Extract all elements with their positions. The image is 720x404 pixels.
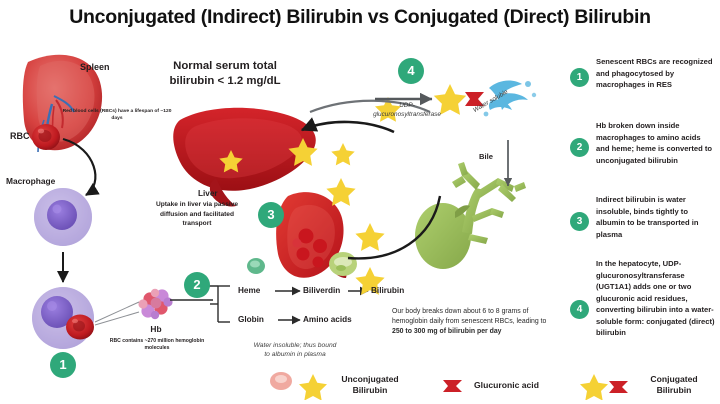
conjugated-cell-illustration	[329, 252, 357, 276]
rbc-illustration	[32, 124, 60, 150]
legend-label-unconjugated: Unconjugated Bilirubin	[330, 374, 410, 396]
biliary-tree-illustration	[415, 162, 526, 269]
pathway-globin: Globin	[238, 315, 264, 324]
liver-illustration	[173, 108, 316, 207]
legend-label-conjugated: Conjugated Bilirubin	[636, 374, 712, 396]
macrophage-illustration	[34, 188, 92, 246]
legend-arrow-icon	[442, 378, 468, 394]
enzyme-line-1: UDP-	[399, 102, 415, 109]
pathway-amino-acids: Amino acids	[303, 315, 352, 324]
water-insoluble-note: Water insoluble; thus bound to albumin i…	[224, 341, 366, 360]
insoluble-line-1: Water insoluble; thus bound	[254, 342, 337, 349]
step-circle-2[interactable]: 2	[184, 272, 210, 298]
legend-label-glucuronic-acid: Glucuronic acid	[474, 380, 539, 391]
pathway-heme: Heme	[238, 286, 260, 295]
uptake-line-2: diffusion and facilitated	[160, 211, 234, 218]
step-circle-3[interactable]: 3	[258, 202, 284, 228]
breakdown-highlight-2: mg of bilirubin per day	[427, 328, 501, 335]
rbc-lifespan-note: Red blood cells (RBCs) have a lifespan o…	[62, 108, 172, 122]
right-step-text-1: Senescent RBCs are recognized and phagoc…	[596, 56, 716, 91]
rbc-label: RBC	[10, 131, 30, 141]
breakdown-line-1: Our body breaks down about 6 to 8	[392, 308, 500, 315]
insoluble-line-2: to albumin in plasma	[264, 351, 325, 358]
legend-1-line-2: Bilirubin	[353, 385, 388, 395]
infographic-page: Unconjugated (Indirect) Bilirubin vs Con…	[0, 0, 720, 404]
legend: Unconjugated Bilirubin Glucuronic acid C…	[0, 364, 720, 404]
right-step-number-1[interactable]: 1	[570, 68, 589, 87]
serum-bilirubin-note: Normal serum total bilirubin < 1.2 mg/dL	[155, 59, 295, 89]
legend-1-line-1: Unconjugated	[341, 374, 398, 384]
uptake-line-3: transport	[183, 220, 212, 227]
legend-star-icon	[298, 372, 328, 400]
hemoglobin-molecule-illustration	[138, 289, 172, 319]
pathway-bilirubin: Bilirubin	[371, 286, 404, 295]
serum-note-line-1: Normal serum total	[173, 60, 277, 72]
enzyme-line-2: glucuronosyltransferase	[373, 111, 441, 118]
breakdown-line-3: senescent RBCs, leading to	[461, 318, 546, 325]
legend-3-line-2: Bilirubin	[657, 385, 692, 395]
to-liver-arrow	[302, 122, 394, 132]
pathway-biliverdin: Biliverdin	[303, 286, 340, 295]
macrophage-phagocytosis-illustration	[32, 287, 94, 349]
liver-uptake-note: Uptake in liver via passive diffusion an…	[134, 200, 260, 229]
hb-label: Hb	[138, 324, 174, 334]
spleen-label: Spleen	[80, 62, 110, 72]
right-step-number-4[interactable]: 4	[570, 300, 589, 319]
legend-3-line-1: Conjugated	[650, 374, 697, 384]
small-green-cell-illustration	[247, 258, 265, 274]
hb-note: RBC contains ~270 million hemoglobin mol…	[105, 338, 209, 353]
liver-label: Liver	[198, 189, 218, 198]
serum-note-line-2: bilirubin < 1.2 mg/dL	[169, 75, 280, 87]
right-step-number-2[interactable]: 2	[570, 138, 589, 157]
legend-conjugated-icon	[580, 372, 636, 400]
breakdown-highlight-1: 250 to 300	[392, 328, 425, 335]
right-step-text-2: Hb broken down inside macrophages to ami…	[596, 120, 716, 166]
step-circle-4[interactable]: 4	[398, 58, 424, 84]
uptake-line-1: Uptake in liver via passive	[156, 201, 238, 208]
right-step-number-3[interactable]: 3	[570, 212, 589, 231]
hemoglobin-breakdown-note: Our body breaks down about 6 to 8 grams …	[392, 307, 556, 337]
enzyme-label: UDP- glucuronosyltransferase	[352, 101, 462, 119]
right-step-text-4: In the hepatocyte, UDP-glucuronosyltrans…	[596, 258, 716, 339]
right-step-text-3: Indirect bilirubin is water insoluble, b…	[596, 194, 716, 240]
macrophage-label: Macrophage	[6, 176, 55, 186]
bile-label: Bile	[479, 152, 493, 161]
